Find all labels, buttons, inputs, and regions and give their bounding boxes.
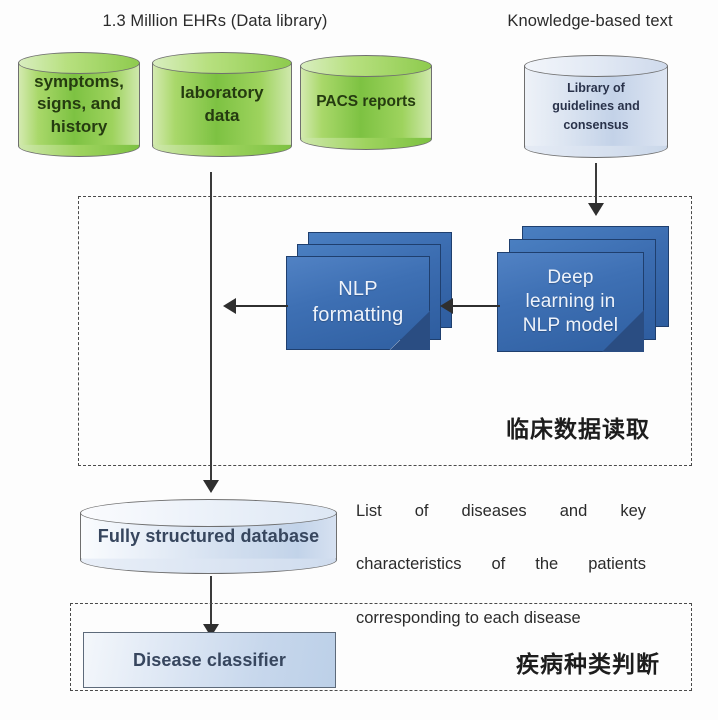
cylinder-laboratory-data[interactable]: laboratory data bbox=[152, 52, 292, 157]
cylinder-body bbox=[152, 63, 292, 146]
cylinder-symptoms-signs-history[interactable]: symptoms, signs, and history bbox=[18, 52, 140, 157]
section-label-clinical-data-reading: 临床数据读取 bbox=[506, 410, 650, 444]
cylinder-library-of-guidelines[interactable]: Library of guidelines and consensus bbox=[524, 55, 668, 158]
node-nlp-formatting[interactable]: NLP formatting bbox=[286, 232, 452, 350]
connector-nlp-to-trunk-line bbox=[236, 305, 288, 307]
connector-ehr-trunk-line bbox=[210, 172, 212, 484]
cylinder-body bbox=[18, 63, 140, 146]
node-deep-learning-nlp-model[interactable]: Deep learning in NLP model bbox=[497, 226, 669, 352]
section-label-disease-classification: 疾病种类判断 bbox=[516, 645, 660, 679]
cylinder-top-ellipse bbox=[300, 55, 432, 77]
annotation-line1: List of diseases and key bbox=[356, 498, 646, 551]
connector-knowledge-to-deep-learning-arrowhead bbox=[588, 203, 604, 216]
diagram-canvas: 1.3 Million EHRs (Data library) Knowledg… bbox=[0, 0, 718, 720]
connector-nlp-to-trunk-arrowhead bbox=[223, 298, 236, 314]
connector-deep-learning-to-nlp-arrowhead bbox=[440, 298, 453, 314]
connector-ehr-trunk-arrowhead bbox=[203, 480, 219, 493]
header-label-knowledge: Knowledge-based text bbox=[470, 12, 710, 31]
cylinder-top-ellipse bbox=[524, 55, 668, 77]
cylinder-top-ellipse bbox=[80, 499, 337, 527]
header-label-ehr: 1.3 Million EHRs (Data library) bbox=[70, 12, 360, 31]
node-label: Disease classifier bbox=[133, 650, 286, 671]
node-disease-classifier[interactable]: Disease classifier bbox=[83, 632, 336, 688]
connector-knowledge-to-deep-learning-line bbox=[595, 163, 597, 207]
cylinder-top-ellipse bbox=[18, 52, 140, 74]
cylinder-body bbox=[524, 66, 668, 147]
connector-deep-learning-to-nlp-line bbox=[452, 305, 500, 307]
cylinder-fully-structured-database[interactable]: Fully structured database bbox=[80, 499, 337, 574]
annotation-line2: characteristics of the patients bbox=[356, 551, 646, 604]
cylinder-top-ellipse bbox=[152, 52, 292, 74]
cylinder-pacs-reports[interactable]: PACS reports bbox=[300, 55, 432, 150]
